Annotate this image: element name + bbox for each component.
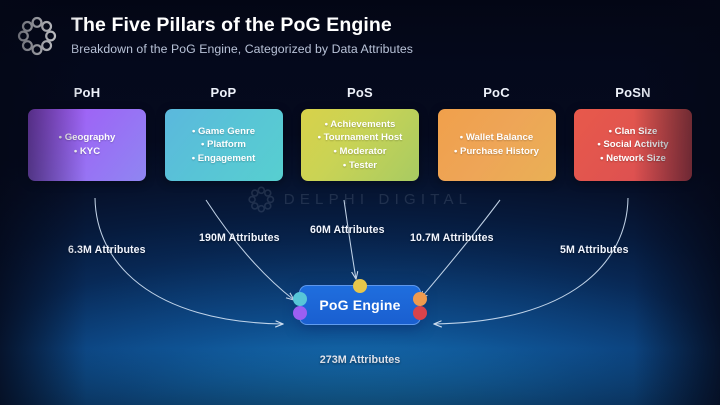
background-edge-shade bbox=[0, 0, 720, 405]
